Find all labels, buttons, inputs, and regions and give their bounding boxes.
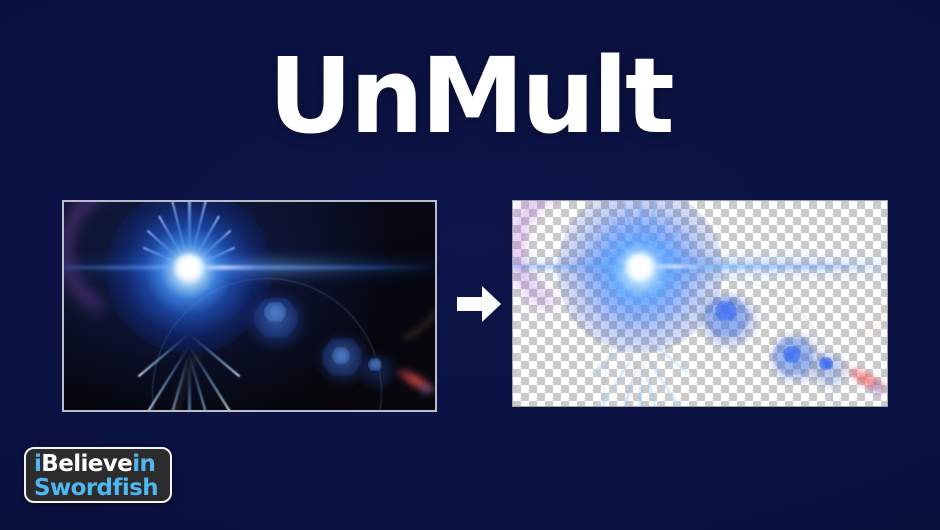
- red-ghost-streak: [844, 363, 888, 397]
- flare-core-glow: [557, 200, 723, 353]
- arrow-right-icon: [455, 282, 503, 326]
- purple-arc: [512, 200, 679, 337]
- logo-line-2: Swordfish: [34, 477, 170, 500]
- flare-ring: [603, 277, 833, 407]
- horizontal-streak: [512, 265, 883, 268]
- ghost-orb: [715, 301, 737, 321]
- flare-ray: [639, 200, 642, 267]
- horizontal-haze: [512, 259, 888, 273]
- flare-core: [625, 253, 655, 279]
- flare-ray: [639, 353, 665, 407]
- ghost-orb: [871, 383, 883, 393]
- brand-logo[interactable]: iBelievein Swordfish: [24, 447, 172, 503]
- flare-ray: [598, 344, 641, 407]
- ghost-orb: [811, 353, 847, 387]
- after-lens-flare: [513, 201, 887, 406]
- flare-ray: [639, 363, 642, 407]
- logo-line-1: iBelievein: [34, 453, 170, 476]
- flare-ray: [594, 246, 640, 268]
- flare-ray: [639, 344, 682, 407]
- rainbow-arc-bottom: [615, 303, 846, 407]
- before-background: [64, 202, 435, 410]
- logo-text-believe: Believe: [41, 451, 132, 477]
- after-image-panel: [512, 200, 888, 407]
- flare-ray: [639, 332, 691, 376]
- ghost-orb: [699, 293, 757, 347]
- flare-ray: [639, 200, 658, 267]
- rainbow-arc-top: [685, 200, 888, 377]
- ghost-orb: [783, 346, 801, 363]
- flare-ray: [615, 353, 641, 407]
- logo-text-in: in: [132, 451, 155, 477]
- title-card: UnMult: [0, 0, 940, 530]
- flare-ray: [640, 246, 686, 268]
- logo-text-swordfish: Swordfish: [34, 475, 158, 501]
- before-image-panel: [62, 200, 437, 412]
- page-title: UnMult: [0, 44, 940, 148]
- ghost-orb: [769, 333, 821, 383]
- flare-ray: [609, 215, 641, 268]
- flare-ray: [598, 229, 641, 268]
- flare-ray: [589, 332, 641, 376]
- flare-ray: [639, 229, 682, 268]
- flare-ray: [639, 215, 671, 268]
- ghost-orb: [819, 357, 833, 370]
- ghost-orb: [705, 297, 749, 337]
- ghost-orb: [773, 337, 813, 375]
- flare-ray: [622, 200, 641, 267]
